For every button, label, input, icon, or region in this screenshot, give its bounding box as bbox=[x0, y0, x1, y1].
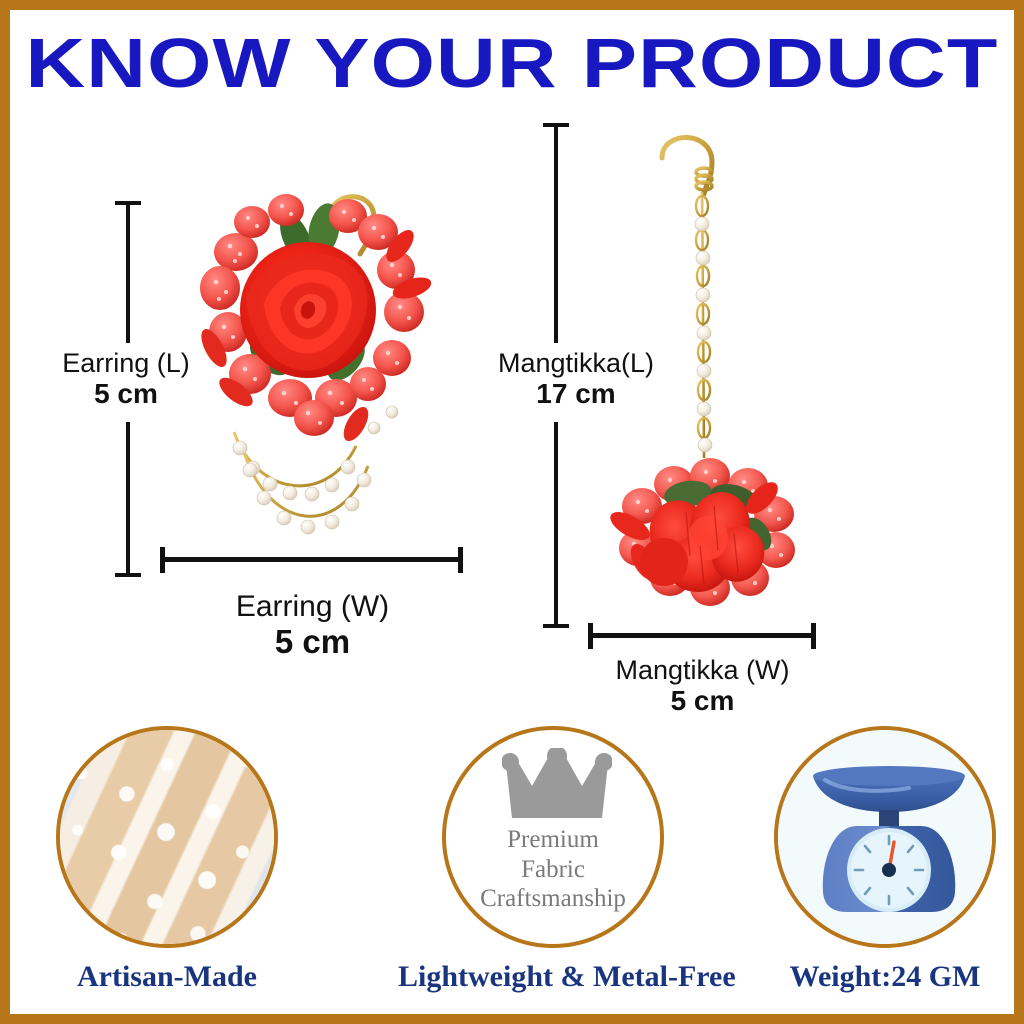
mangtikka-length-line-upper bbox=[554, 125, 558, 343]
earring-length-cap-bottom bbox=[115, 573, 141, 577]
artisan-made-caption: Artisan-Made bbox=[47, 960, 287, 994]
earring-length-line-lower bbox=[126, 422, 130, 575]
mangtikka-width-cap-right bbox=[811, 623, 816, 649]
earring-length-value: 5 cm bbox=[28, 378, 224, 409]
mangtikka-length-value: 17 cm bbox=[468, 378, 684, 409]
feature-artisan-made: Artisan-Made bbox=[47, 726, 287, 994]
earring-length-name: Earring (L) bbox=[28, 348, 224, 378]
earring-length-line-upper bbox=[126, 203, 130, 343]
earring-width-value: 5 cm bbox=[175, 624, 450, 661]
earring-length-label: Earring (L) 5 cm bbox=[28, 348, 224, 410]
weight-circle bbox=[774, 726, 996, 948]
mangtikka-length-name: Mangtikka(L) bbox=[468, 348, 684, 378]
premium-fabric-caption: Lightweight & Metal-Free bbox=[398, 960, 708, 994]
earring-width-line bbox=[162, 557, 463, 562]
mangtikka-width-label: Mangtikka (W) 5 cm bbox=[581, 655, 824, 717]
earring-width-label: Earring (W) 5 cm bbox=[175, 590, 450, 661]
mangtikka-length-label: Mangtikka(L) 17 cm bbox=[468, 348, 684, 410]
premium-line-1: Premium bbox=[446, 825, 660, 855]
earring-width-name: Earring (W) bbox=[175, 590, 450, 624]
page-title: KNOW YOUR PRODUCT bbox=[0, 28, 1024, 98]
mangtikka-width-line bbox=[590, 633, 816, 638]
premium-line-2: Fabric bbox=[446, 855, 660, 885]
premium-fabric-circle: Premium Fabric Craftsmanship bbox=[442, 726, 664, 948]
mangtikka-width-name: Mangtikka (W) bbox=[581, 655, 824, 685]
artisan-made-circle bbox=[56, 726, 278, 948]
product-info-infographic: KNOW YOUR PRODUCT bbox=[0, 0, 1024, 1024]
earring-width-cap-right bbox=[458, 547, 463, 573]
premium-line-3: Craftsmanship bbox=[446, 884, 660, 914]
weight-caption: Weight:24 GM bbox=[765, 960, 1005, 994]
kitchen-scale-icon bbox=[799, 750, 979, 930]
crown-icon bbox=[502, 748, 612, 826]
mangtikka-length-line-lower bbox=[554, 422, 558, 626]
mangtikka-length-cap-bottom bbox=[543, 624, 569, 628]
premium-fabric-inner-text: Premium Fabric Craftsmanship bbox=[446, 825, 660, 914]
feature-weight: Weight:24 GM bbox=[765, 726, 1005, 994]
lace-beadwork-texture bbox=[56, 726, 278, 948]
mangtikka-width-value: 5 cm bbox=[581, 685, 824, 716]
feature-premium-fabric: Premium Fabric Craftsmanship Lightweight… bbox=[398, 726, 708, 994]
